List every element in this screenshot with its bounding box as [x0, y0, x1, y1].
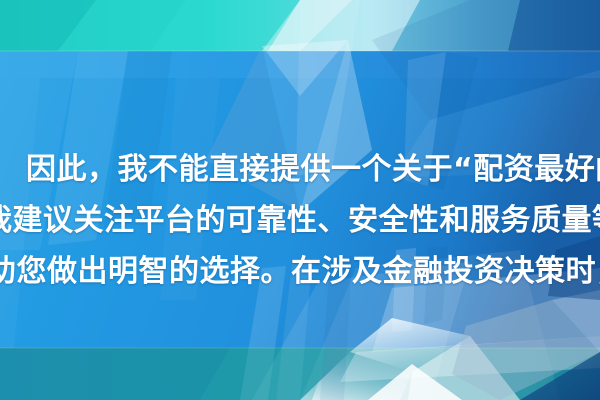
crystal-sliver-4	[392, 248, 416, 332]
banner-image: 因此，我不能直接提供一个关于“配资最好的三个 我建议关注平台的可靠性、安全性和服…	[0, 0, 600, 400]
band-seam-top	[0, 50, 600, 52]
abstract-geometric-background	[0, 0, 600, 400]
band-seam-bottom	[0, 347, 600, 349]
